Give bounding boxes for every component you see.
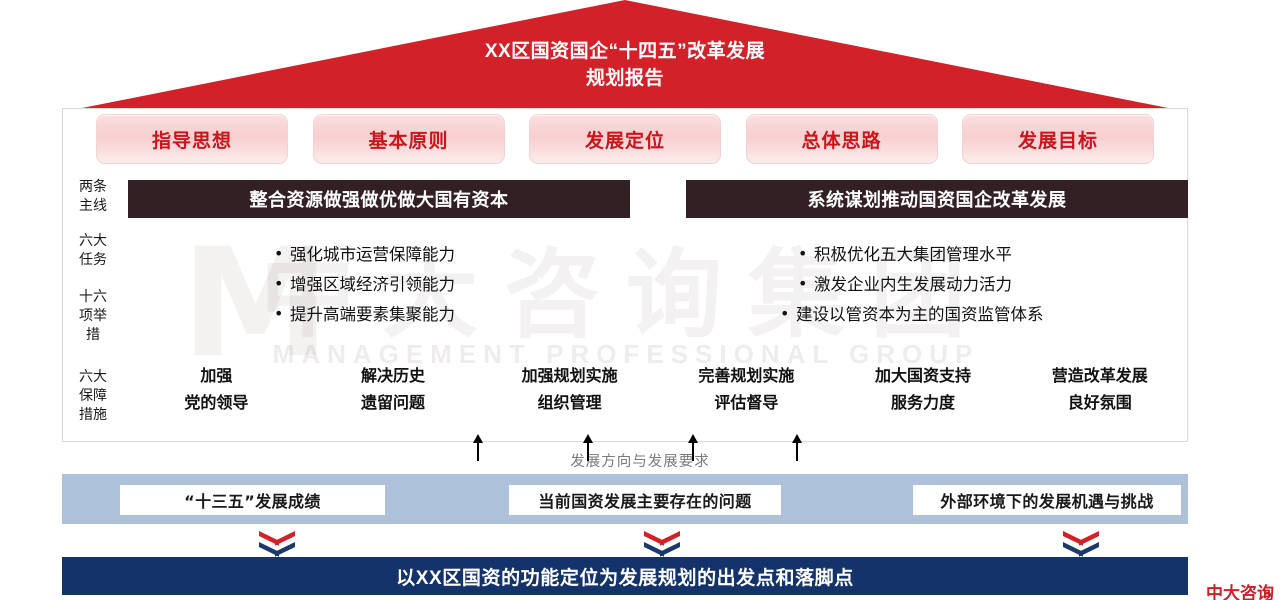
measure-party-leadership: 加强 党的领导 <box>128 362 305 424</box>
foundation-box-problems[interactable]: 当前国资发展主要存在的问题 <box>509 485 781 515</box>
pillar-overall-approach[interactable]: 总体思路 <box>746 114 938 164</box>
flow-arrow-up-icon <box>475 434 481 462</box>
row-label-column: 两条 主线 六大 任务 十六 项举 措 六大 保障 措施 <box>64 170 122 440</box>
list-item: 积极优化五大集团管理水平 <box>798 240 1044 270</box>
measure-evaluation: 完善规划实施 评估督导 <box>658 362 835 424</box>
chevron-up-icon <box>259 531 295 557</box>
safeguard-measures-row: 加强 党的领导 解决历史 遗留问题 加强规划实施 组织管理 完善规划实施 评估督… <box>128 362 1188 424</box>
flow-arrow-up-icon <box>690 434 696 462</box>
measure-reform-atmosphere: 营造改革发展 良好氛围 <box>1011 362 1188 424</box>
list-item: 建设以管资本为主的国资监管体系 <box>780 300 1044 330</box>
list-item: 提升高端要素集聚能力 <box>274 300 455 330</box>
measure-historical-issues: 解决历史 遗留问题 <box>305 362 482 424</box>
row-label-six-tasks: 六大 任务 <box>64 232 122 270</box>
pillar-development-goals[interactable]: 发展目标 <box>962 114 1154 164</box>
list-item: 强化城市运营保障能力 <box>274 240 455 270</box>
pillar-guiding-thought[interactable]: 指导思想 <box>96 114 288 164</box>
pillar-basic-principles[interactable]: 基本原则 <box>313 114 505 164</box>
flow-arrow-up-icon <box>585 434 591 462</box>
row-label-two-main-lines: 两条 主线 <box>64 178 122 216</box>
list-item: 激发企业内生发展动力活力 <box>798 270 1044 300</box>
main-line-right[interactable]: 系统谋划推动国资国企改革发展 <box>686 180 1188 218</box>
pillar-row: 指导思想 基本原则 发展定位 总体思路 发展目标 <box>62 114 1188 166</box>
footer-banner: 以XX区国资的功能定位为发展规划的出发点和落脚点 <box>62 557 1188 595</box>
slide-canvas: XX区国资国企“十四五”改革发展 规划报告 M 中大咨询集团 MANAGEMEN… <box>0 0 1280 600</box>
task-list-left: 强化城市运营保障能力 增强区域经济引领能力 提升高端要素集聚能力 <box>274 240 455 330</box>
page-title: XX区国资国企“十四五”改革发展 规划报告 <box>62 38 1188 92</box>
list-item: 增强区域经济引领能力 <box>274 270 455 300</box>
task-list-right: 积极优化五大集团管理水平 激发企业内生发展动力活力 建设以管资本为主的国资监管体… <box>798 240 1044 330</box>
measure-implementation-org: 加强规划实施 组织管理 <box>481 362 658 424</box>
pillar-development-position[interactable]: 发展定位 <box>529 114 721 164</box>
row-label-sixteen-measures: 十六 项举 措 <box>64 288 122 345</box>
flow-caption: 发展方向与发展要求 <box>0 450 1280 471</box>
chevron-up-icon <box>1063 531 1099 557</box>
flow-arrow-up-icon <box>794 434 800 462</box>
main-line-left[interactable]: 整合资源做强做优做大国有资本 <box>128 180 630 218</box>
row-label-six-safeguards: 六大 保障 措施 <box>64 368 122 425</box>
corner-logo: 中大咨询 <box>1206 579 1274 600</box>
foundation-box-achievements[interactable]: “十三五”发展成绩 <box>120 485 385 515</box>
measure-state-asset-support: 加大国资支持 服务力度 <box>835 362 1012 424</box>
chevron-up-icon <box>644 531 680 557</box>
foundation-box-opportunities[interactable]: 外部环境下的发展机遇与挑战 <box>913 485 1181 515</box>
